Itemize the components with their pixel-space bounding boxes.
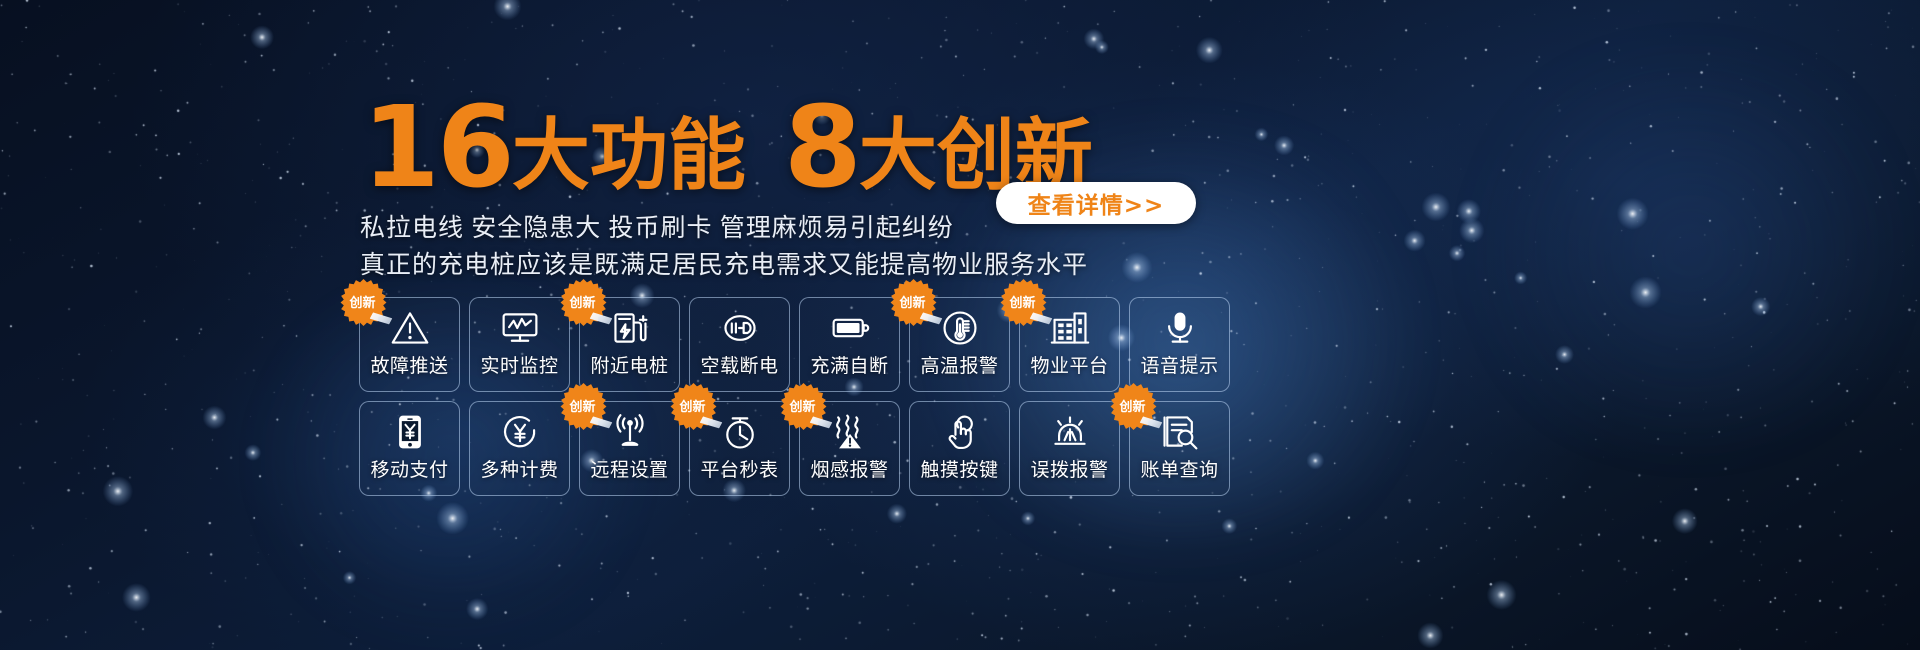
feature-label: 实时监控 — [480, 351, 558, 378]
yuan-circle-icon — [499, 411, 541, 453]
innovation-badge-label: 创新 — [569, 292, 595, 311]
feature-tile-plug-circle[interactable]: 空载断电 — [689, 297, 790, 392]
bill-search-icon — [1159, 411, 1201, 453]
innovation-badge-label: 创新 — [899, 292, 925, 311]
smoke-alarm-icon — [829, 411, 871, 453]
headline-number-8: 8 — [784, 83, 859, 213]
alarm-bell-icon — [1049, 411, 1091, 453]
phone-yuan-icon — [389, 411, 431, 453]
antenna-signal-icon — [609, 411, 651, 453]
feature-tile-warning-triangle[interactable]: 创新故障推送 — [359, 297, 460, 392]
feature-tile-building[interactable]: 创新物业平台 — [1019, 297, 1120, 392]
feature-label: 烟感报警 — [810, 455, 888, 482]
banner-background: 16大功能8大创新 私拉电线 安全隐患大 投币刷卡 管理麻烦易引起纠纷 真正的充… — [0, 0, 1920, 650]
monitor-waveform-icon — [499, 307, 541, 349]
feature-tile-smoke-alarm[interactable]: 创新烟感报警 — [799, 401, 900, 496]
innovation-badge: 创新 — [340, 279, 387, 326]
feature-label: 附近电桩 — [590, 351, 668, 378]
feature-tile-yuan-circle[interactable]: 多种计费 — [469, 401, 570, 496]
feature-label: 账单查询 — [1140, 455, 1218, 482]
thermometer-icon — [939, 307, 981, 349]
headline-number-16: 16 — [362, 83, 512, 213]
feature-tile-microphone[interactable]: 语音提示 — [1129, 297, 1230, 392]
feature-tile-bill-search[interactable]: 创新账单查询 — [1129, 401, 1230, 496]
nebula-glow-3 — [1450, 60, 1920, 440]
building-icon — [1049, 307, 1091, 349]
feature-label: 高温报警 — [920, 351, 998, 378]
battery-full-icon — [829, 307, 871, 349]
page-title: 16大功能8大创新 — [362, 92, 1093, 204]
subtitle-line-2: 真正的充电桩应该是既满足居民充电需求又能提高物业服务水平 — [360, 245, 1088, 281]
feature-label: 平台秒表 — [700, 455, 778, 482]
feature-label: 触摸按键 — [920, 455, 998, 482]
feature-grid: 创新故障推送实时监控创新附近电桩空载断电充满自断创新高温报警创新物业平台语音提示… — [359, 297, 1230, 496]
innovation-badge-label: 创新 — [569, 396, 595, 415]
starburst-shape — [340, 279, 387, 326]
feature-tile-monitor-waveform[interactable]: 实时监控 — [469, 297, 570, 392]
charging-pile-icon — [609, 307, 651, 349]
feature-tile-thermometer[interactable]: 创新高温报警 — [909, 297, 1010, 392]
innovation-badge-label: 创新 — [679, 396, 705, 415]
touch-hand-icon — [939, 411, 981, 453]
feature-tile-touch-hand[interactable]: 触摸按键 — [909, 401, 1010, 496]
headline-text-functions: 大功能 — [512, 111, 746, 201]
feature-tile-phone-yuan[interactable]: 移动支付 — [359, 401, 460, 496]
microphone-icon — [1159, 307, 1201, 349]
innovation-badge-label: 创新 — [789, 396, 815, 415]
stopwatch-icon — [719, 411, 761, 453]
warning-triangle-icon — [389, 307, 431, 349]
feature-tile-stopwatch[interactable]: 创新平台秒表 — [689, 401, 790, 496]
innovation-badge-label: 创新 — [349, 292, 375, 311]
plug-circle-icon — [719, 307, 761, 349]
feature-label: 充满自断 — [810, 351, 888, 378]
feature-label: 物业平台 — [1030, 351, 1108, 378]
feature-label: 语音提示 — [1140, 351, 1218, 378]
feature-label: 误拨报警 — [1030, 455, 1108, 482]
feature-label: 移动支付 — [370, 455, 448, 482]
view-details-button[interactable]: 查看详情>> — [996, 182, 1196, 224]
feature-tile-alarm-bell[interactable]: 误拨报警 — [1019, 401, 1120, 496]
feature-tile-charging-pile[interactable]: 创新附近电桩 — [579, 297, 680, 392]
subtitle-line-1: 私拉电线 安全隐患大 投币刷卡 管理麻烦易引起纠纷 — [360, 208, 954, 244]
feature-label: 空载断电 — [700, 351, 778, 378]
innovation-badge-label: 创新 — [1119, 396, 1145, 415]
feature-label: 多种计费 — [480, 455, 558, 482]
feature-tile-antenna-signal[interactable]: 创新远程设置 — [579, 401, 680, 496]
feature-tile-battery-full[interactable]: 充满自断 — [799, 297, 900, 392]
innovation-badge-label: 创新 — [1009, 292, 1035, 311]
feature-label: 远程设置 — [590, 455, 668, 482]
feature-label: 故障推送 — [370, 351, 448, 378]
